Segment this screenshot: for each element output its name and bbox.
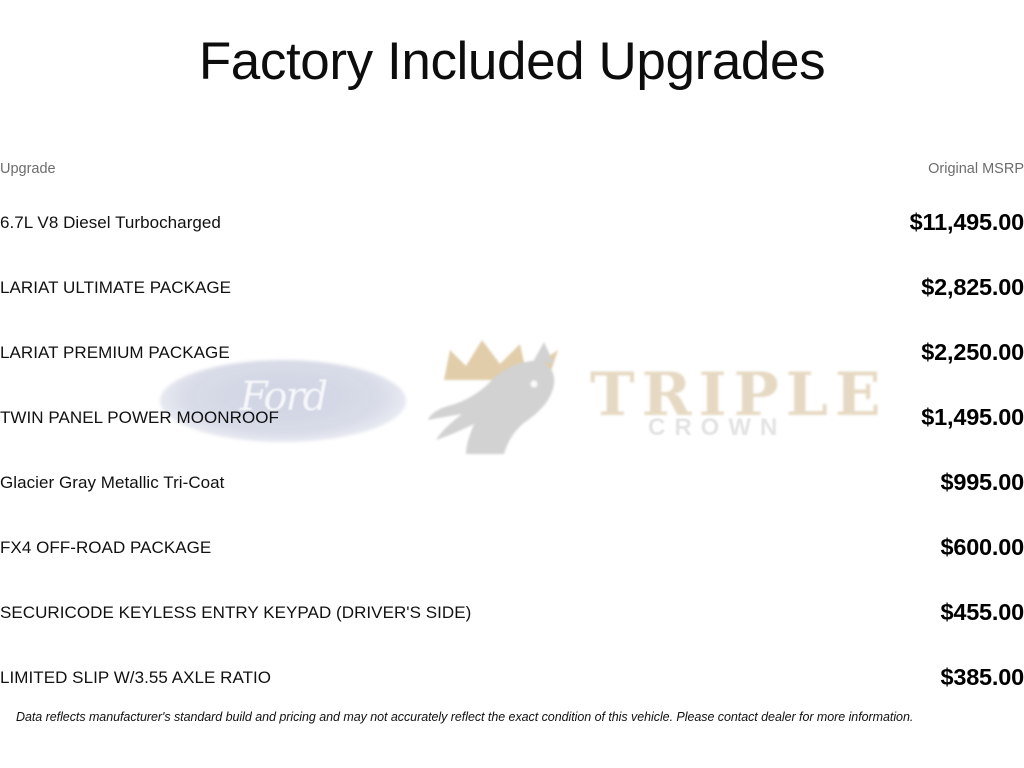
upgrade-name-cell: SECURICODE KEYLESS ENTRY KEYPAD (DRIVER'… [0,580,512,645]
table-row: LARIAT PREMIUM PACKAGE$2,250.00 [0,320,1024,385]
upgrade-name-cell: LIMITED SLIP W/3.55 AXLE RATIO [0,645,512,710]
table-row: FX4 OFF-ROAD PACKAGE$600.00 [0,515,1024,580]
table-row: 6.7L V8 Diesel Turbocharged$11,495.00 [0,190,1024,255]
column-header-original-msrp: Original MSRP [512,148,1024,190]
upgrade-msrp-cell: $2,825.00 [512,255,1024,320]
table-header-row: Upgrade Original MSRP [0,148,1024,190]
factory-upgrades-table: Upgrade Original MSRP 6.7L V8 Diesel Tur… [0,148,1024,710]
upgrade-msrp-cell: $385.00 [512,645,1024,710]
upgrade-name-cell: FX4 OFF-ROAD PACKAGE [0,515,512,580]
page-title: Factory Included Upgrades [0,30,1024,94]
upgrade-msrp-cell: $11,495.00 [512,190,1024,255]
upgrade-msrp-cell: $2,250.00 [512,320,1024,385]
upgrade-msrp-cell: $995.00 [512,450,1024,515]
disclaimer-text: Data reflects manufacturer's standard bu… [16,710,1008,724]
table-row: LARIAT ULTIMATE PACKAGE$2,825.00 [0,255,1024,320]
table-row: TWIN PANEL POWER MOONROOF$1,495.00 [0,385,1024,450]
upgrade-name-cell: LARIAT PREMIUM PACKAGE [0,320,512,385]
upgrade-name-cell: TWIN PANEL POWER MOONROOF [0,385,512,450]
upgrade-name-cell: Glacier Gray Metallic Tri-Coat [0,450,512,515]
column-header-upgrade: Upgrade [0,148,512,190]
table-row: Glacier Gray Metallic Tri-Coat$995.00 [0,450,1024,515]
upgrade-name-cell: 6.7L V8 Diesel Turbocharged [0,190,512,255]
upgrade-msrp-cell: $1,495.00 [512,385,1024,450]
table-row: SECURICODE KEYLESS ENTRY KEYPAD (DRIVER'… [0,580,1024,645]
table-row: LIMITED SLIP W/3.55 AXLE RATIO$385.00 [0,645,1024,710]
upgrade-name-cell: LARIAT ULTIMATE PACKAGE [0,255,512,320]
table-header: Upgrade Original MSRP [0,148,1024,190]
vehicle-upgrades-page: Ford TRIPLE CROWN Factory Included Upgra… [0,0,1024,768]
upgrade-msrp-cell: $455.00 [512,580,1024,645]
table-body: 6.7L V8 Diesel Turbocharged$11,495.00LAR… [0,190,1024,710]
upgrade-msrp-cell: $600.00 [512,515,1024,580]
